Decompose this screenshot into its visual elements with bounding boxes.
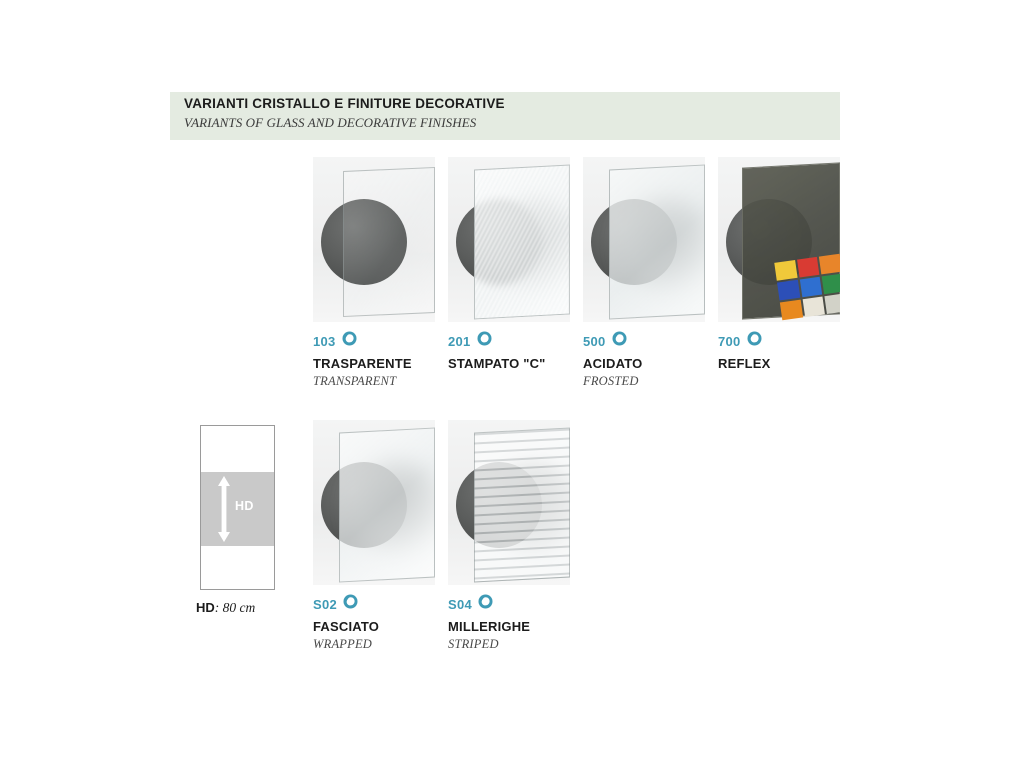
swatch-code-row: 103 (313, 333, 435, 349)
swatch-card-500[interactable]: 500 ACIDATO FROSTED (583, 157, 705, 389)
hd-band-label: HD (235, 499, 254, 513)
glass-pane-patterned (474, 164, 570, 319)
page-subtitle: VARIANTS OF GLASS AND DECORATIVE FINISHE… (184, 115, 476, 131)
glass-pane-striped (474, 427, 570, 582)
hd-caption-key: HD (196, 600, 215, 615)
glass-pane-frosted (609, 164, 705, 319)
hd-caption: HD: 80 cm (196, 600, 316, 616)
swatch-name-it: REFLEX (718, 356, 840, 371)
color-checker-chart (774, 254, 840, 321)
hd-dimension-diagram: HD (200, 425, 275, 590)
swatch-name-it: MILLERIGHE (448, 619, 570, 634)
swatch-photo-striped (448, 420, 570, 585)
swatch-code-row: 201 (448, 333, 570, 349)
swatch-code-row: S02 (313, 596, 435, 612)
glass-drop-icon (342, 331, 357, 351)
glass-drop-icon (478, 594, 493, 614)
swatch-name-it: FASCIATO (313, 619, 435, 634)
swatch-card-103[interactable]: 103 TRASPARENTE TRANSPARENT (313, 157, 435, 389)
swatch-name-it: TRASPARENTE (313, 356, 435, 371)
swatch-card-s04[interactable]: S04 MILLERIGHE STRIPED (448, 420, 570, 652)
glass-drop-icon (612, 331, 627, 351)
swatch-photo-reflex (718, 157, 840, 322)
hd-caption-value: : 80 cm (215, 600, 256, 615)
page-title: VARIANTI CRISTALLO E FINITURE DECORATIVE (184, 96, 505, 111)
swatch-photo-transparent (313, 157, 435, 322)
swatch-code-row: 500 (583, 333, 705, 349)
glass-drop-icon (343, 594, 358, 614)
swatch-card-201[interactable]: 201 STAMPATO "C" (448, 157, 570, 374)
swatch-code: 103 (313, 334, 336, 349)
swatch-code-row: S04 (448, 596, 570, 612)
double-headed-vertical-arrow-icon (217, 476, 231, 542)
swatch-card-s02[interactable]: S02 FASCIATO WRAPPED (313, 420, 435, 652)
swatch-code: 700 (718, 334, 741, 349)
swatch-name-en: FROSTED (583, 374, 705, 389)
swatch-name-en: TRANSPARENT (313, 374, 435, 389)
swatch-name-en: WRAPPED (313, 637, 435, 652)
glass-pane-wrapped (339, 427, 435, 582)
glass-drop-icon (477, 331, 492, 351)
glass-drop-icon (747, 331, 762, 351)
swatch-code-row: 700 (718, 333, 840, 349)
glass-pane-clear (343, 167, 435, 317)
swatch-name-it: STAMPATO "C" (448, 356, 570, 371)
swatch-photo-frosted (583, 157, 705, 322)
swatch-photo-patterned (448, 157, 570, 322)
section-header-banner: VARIANTI CRISTALLO E FINITURE DECORATIVE… (170, 92, 840, 140)
swatch-code: 500 (583, 334, 606, 349)
swatch-name-en: STRIPED (448, 637, 570, 652)
swatch-card-700[interactable]: 700 REFLEX (718, 157, 840, 374)
swatch-code: S04 (448, 597, 472, 612)
swatch-name-it: ACIDATO (583, 356, 705, 371)
swatch-code: 201 (448, 334, 471, 349)
swatch-code: S02 (313, 597, 337, 612)
swatch-photo-wrapped (313, 420, 435, 585)
